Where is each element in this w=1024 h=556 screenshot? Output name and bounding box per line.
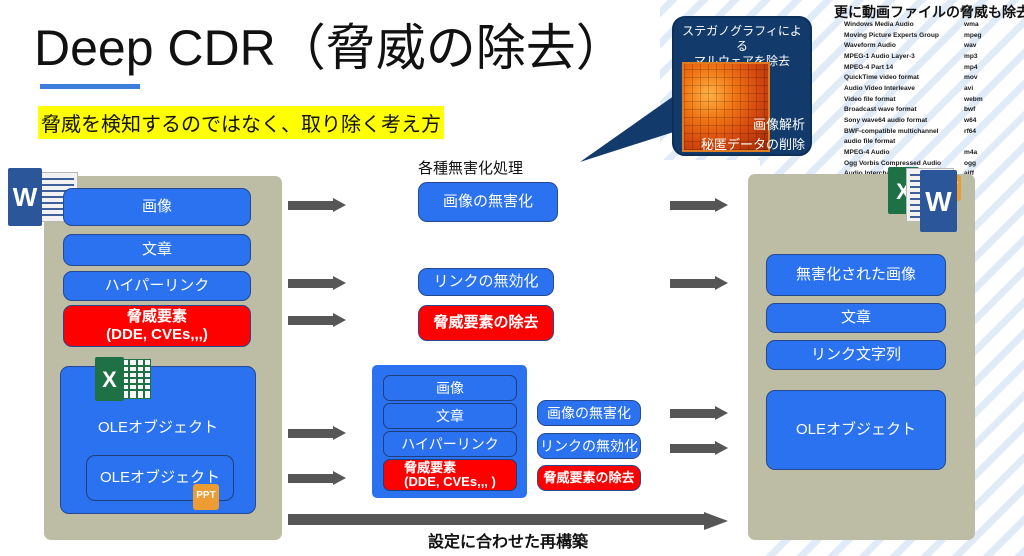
left-item-hyperlink: ハイパーリンク — [63, 271, 251, 301]
mid-group-image-label: 画像 — [436, 378, 464, 398]
left-item-threat: 脅威要素 (DDE, CVEs,,,) — [63, 305, 251, 347]
callout-title-line1: ステガノグラフィによる — [682, 24, 802, 53]
table-row: MPEG-4 Part 14mp4 — [844, 63, 1016, 74]
format-ext: w64 — [964, 116, 1008, 127]
format-name: Waveform Audio — [844, 41, 964, 52]
format-ext: mp3 — [964, 52, 1008, 63]
mid-group-item-image: 画像 — [383, 375, 517, 401]
excel-icon: X — [95, 357, 151, 403]
left-threat-text: 脅威要素 (DDE, CVEs,,,) — [106, 308, 208, 343]
mid-group-threat-text: 脅威要素 (DDE, CVEs,,, ) — [404, 461, 496, 490]
format-ext: rf64 — [964, 127, 1008, 138]
mid-process-link-disable: リンクの無効化 — [537, 433, 641, 459]
left-item-image-label: 画像 — [142, 198, 172, 216]
right-item-text-label: 文章 — [841, 309, 871, 327]
mid-process-image-sanitize: 画像の無害化 — [537, 400, 641, 426]
right-item-image-label: 無害化された画像 — [796, 266, 916, 284]
arrow-left-to-mid-3 — [288, 313, 346, 325]
table-row: audio file format — [844, 137, 1016, 148]
table-row: MPEG-4 Audiom4a — [844, 148, 1016, 159]
table-row: Audio Video Interleaveavi — [844, 84, 1016, 95]
table-row: Video file formatwebm — [844, 95, 1016, 106]
left-ole-outer-label: OLEオブジェクト — [61, 419, 255, 437]
format-name: BWF-compatible multichannel — [844, 127, 964, 138]
arrow-left-to-mid-2 — [288, 276, 346, 288]
subtitle-highlight: 脅威を検知するのではなく、取り除く考え方 — [38, 106, 444, 139]
powerpoint-icon: PPT — [193, 484, 219, 510]
mid-group-item-hyperlink: ハイパーリンク — [383, 431, 517, 457]
mid-group-link-label: ハイパーリンク — [401, 434, 498, 454]
mid-ole-breakdown-group: 画像 文章 ハイパーリンク 脅威要素 (DDE, CVEs,,, ) — [372, 365, 527, 498]
left-ole-object-outer: OLEオブジェクト OLEオブジェクト — [60, 366, 256, 514]
file-list-title: 更に動画ファイルの脅威も除去 — [834, 2, 1024, 22]
callout-caption-1: 画像解析 — [753, 114, 805, 133]
left-item-text: 文章 — [63, 234, 251, 266]
mid-group-text-label: 文章 — [436, 406, 464, 426]
format-ext: webm — [964, 95, 1008, 106]
format-ext — [964, 137, 1008, 148]
file-format-table: Windows Media Audiowma Moving Picture Ex… — [844, 20, 1016, 180]
format-name: Audio Video Interleave — [844, 84, 964, 95]
mid-item-threat-remove: 脅威要素の除去 — [418, 305, 554, 341]
mid-group-item-text: 文章 — [383, 403, 517, 429]
mid-group-threat-line2: (DDE, CVEs,,, ) — [404, 474, 496, 489]
left-item-image: 画像 — [63, 188, 251, 226]
format-name: MPEG-1 Audio Layer-3 — [844, 52, 964, 63]
arrow-mid-to-right-2 — [670, 276, 728, 288]
format-name: Windows Media Audio — [844, 20, 964, 31]
table-row: BWF-compatible multichannelrf64 — [844, 127, 1016, 138]
word-letter: W — [8, 182, 42, 213]
title-underline — [40, 84, 140, 89]
right-item-link-label: リンク文字列 — [811, 346, 901, 364]
mid-item-threat-label: 脅威要素の除去 — [433, 314, 538, 332]
right-item-text: 文章 — [766, 303, 946, 333]
left-item-text-label: 文章 — [142, 241, 172, 259]
table-row: Waveform Audiowav — [844, 41, 1016, 52]
format-name: MPEG-4 Audio — [844, 148, 964, 159]
arrow-left-to-mid-1 — [288, 198, 346, 210]
mid-item-link-disable: リンクの無効化 — [418, 268, 554, 296]
left-item-hyperlink-label: ハイパーリンク — [105, 277, 209, 295]
format-name: Video file format — [844, 95, 964, 106]
mid-item-image-label: 画像の無害化 — [443, 193, 533, 211]
arrow-mid-to-right-4 — [670, 441, 728, 453]
callout-caption-2: 秘匿データの削除 — [678, 134, 805, 153]
mid-group-threat-line1: 脅威要素 — [404, 460, 456, 475]
table-row: QuickTime video formatmov — [844, 73, 1016, 84]
slide-canvas: Deep CDR（脅威の除去） 脅威を検知するのではなく、取り除く考え方 更に動… — [0, 0, 1024, 556]
rebuild-arrow-label: 設定に合わせた再構築 — [288, 528, 728, 552]
word-tab-group: W — [920, 170, 966, 234]
mid-process-threat-label: 脅威要素の除去 — [543, 470, 634, 485]
table-row: Windows Media Audiowma — [844, 20, 1016, 31]
excel-letter: X — [95, 367, 124, 393]
format-name: MPEG-4 Part 14 — [844, 63, 964, 74]
mid-process-image-label: 画像の無害化 — [547, 405, 631, 422]
left-threat-line2: (DDE, CVEs,,,) — [106, 326, 208, 343]
page-title: Deep CDR（脅威の除去） — [34, 8, 626, 80]
format-ext: mp4 — [964, 63, 1008, 74]
format-name: audio file format — [844, 137, 964, 148]
ppt-letters: PPT — [193, 490, 219, 501]
mid-group-item-threat: 脅威要素 (DDE, CVEs,,, ) — [383, 459, 517, 491]
left-threat-line1: 脅威要素 — [127, 308, 187, 325]
mid-item-image-sanitize: 画像の無害化 — [418, 182, 558, 222]
format-name: QuickTime video format — [844, 73, 964, 84]
table-row: Sony wave64 audio formatw64 — [844, 116, 1016, 127]
arrow-mid-to-right-3 — [670, 406, 728, 418]
format-ext: bwf — [964, 105, 1008, 116]
format-name: Moving Picture Experts Group — [844, 31, 964, 42]
arrow-mid-to-right-1 — [670, 198, 728, 210]
table-row: Broadcast wave formatbwf — [844, 105, 1016, 116]
arrow-left-to-mid-4 — [288, 426, 346, 438]
format-ext: mpeg — [964, 31, 1008, 42]
arrow-left-to-mid-5 — [288, 471, 346, 483]
format-ext: mov — [964, 73, 1008, 84]
format-ext: avi — [964, 84, 1008, 95]
format-name: Sony wave64 audio format — [844, 116, 964, 127]
mid-process-threat-remove: 脅威要素の除去 — [537, 465, 641, 491]
steganography-callout: ステガノグラフィによる マルウェアを除去 画像解析 秘匿データの削除 — [672, 16, 812, 156]
format-ext: wav — [964, 41, 1008, 52]
right-item-sanitized-image: 無害化された画像 — [766, 254, 946, 296]
format-ext: wma — [964, 20, 1008, 31]
word-letter: W — [920, 186, 957, 218]
sanitize-process-caption: 各種無害化処理 — [418, 157, 523, 178]
mid-process-link-label: リンクの無効化 — [540, 438, 638, 455]
format-name: Broadcast wave format — [844, 105, 964, 116]
right-item-ole-object: OLEオブジェクト — [766, 390, 946, 470]
format-ext: m4a — [964, 148, 1008, 159]
right-item-ole-label: OLEオブジェクト — [796, 421, 916, 439]
right-item-link-string: リンク文字列 — [766, 340, 946, 370]
table-row: Moving Picture Experts Groupmpeg — [844, 31, 1016, 42]
mid-item-link-label: リンクの無効化 — [433, 273, 538, 291]
table-row: MPEG-1 Audio Layer-3mp3 — [844, 52, 1016, 63]
